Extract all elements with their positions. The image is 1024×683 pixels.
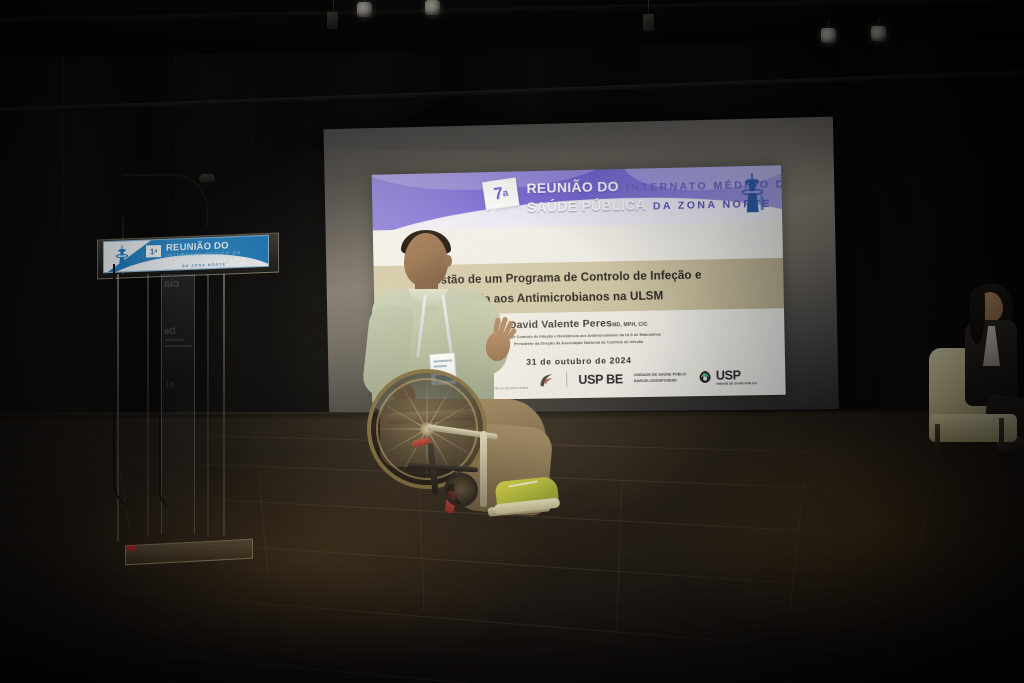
gooseneck-microphone — [122, 174, 208, 226]
armchair-leg — [999, 418, 1004, 444]
slide-header-band: 7a REUNIÃO DO INTERNATO MÉDICO DE SAÚDE … — [372, 165, 783, 230]
audio-cable — [113, 264, 141, 510]
lighthouse-icon — [737, 172, 768, 215]
power-indicator-icon — [127, 546, 136, 550]
edition-ordinal: a — [502, 187, 509, 199]
spotlight-icon — [643, 14, 654, 31]
spotlight-icon — [357, 2, 372, 17]
uspbe-logo: USP BE — [578, 372, 623, 387]
spotlight-icon — [327, 12, 338, 29]
podium-badge-ordinal: a — [154, 248, 157, 254]
header-line2-strong: SAÚDE PÚBLICA — [527, 196, 646, 215]
audio-cable — [159, 278, 177, 510]
podium-base — [125, 539, 253, 566]
wheelchair-caster-wheel — [444, 473, 478, 507]
usp-logo: USP UNIDADE DE SAÚDE PÚBLICA — [698, 368, 757, 386]
spotlight-icon — [821, 28, 836, 43]
edition-badge: 7a — [482, 177, 519, 210]
uspbe-subtitle: UNIDADE DE SAÚDE PÚBLIC BARCELOS/ESPOSEN… — [634, 372, 687, 384]
stage-photo-scene: 7a REUNIÃO DO INTERNATO MÉDICO DE SAÚDE … — [0, 0, 1024, 683]
speaker-ear — [444, 255, 452, 267]
header-line1-strong: REUNIÃO DO — [526, 178, 619, 196]
spotlight-icon — [871, 26, 886, 41]
podium: 1a REUNIÃO DO SAÚDE PÚBLICA INTERNATO MÉ… — [95, 168, 285, 568]
seated-attendee — [925, 286, 1024, 466]
usp-logo-sub: UNIDADE DE SAÚDE PÚBLICA — [716, 382, 757, 386]
podium-edition-badge: 1a — [146, 245, 161, 258]
armchair-leg — [935, 424, 940, 450]
spotlight-icon — [425, 0, 440, 15]
microphone-head-icon — [199, 174, 215, 183]
usp-emblem-icon — [698, 370, 713, 385]
presenter-credentials: MD, MPH, CIC — [612, 322, 648, 329]
usp-logo-main: USP — [716, 368, 741, 382]
uspbe-subtitle-line2: BARCELOS/ESPOSEND — [634, 378, 687, 384]
speaker-figure — [368, 233, 578, 523]
